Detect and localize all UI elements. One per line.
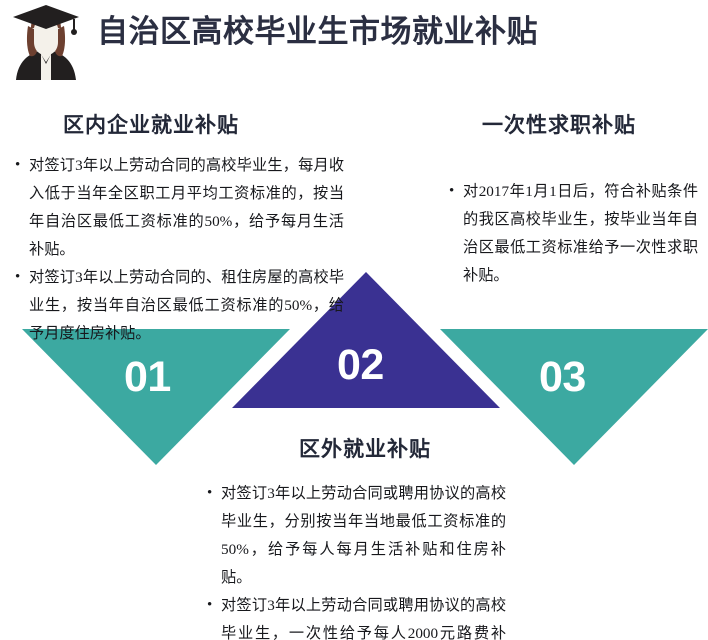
infographic-root: 自治区高校毕业生市场就业补贴 01 02 03 区内企业就业补贴 对签订3年以上… [0,0,708,640]
bullet-item: 对签订3年以上劳动合同的高校毕业生，每月收入低于当年全区职工月平均工资标准的，按… [14,152,344,264]
header: 自治区高校毕业生市场就业补贴 [0,0,708,86]
triangle-number-03: 03 [539,356,586,399]
section-body-01: 对签订3年以上劳动合同的高校毕业生，每月收入低于当年全区职工月平均工资标准的，按… [14,152,344,348]
section-heading-03: 一次性求职补贴 [482,112,636,138]
bullet-item: 对2017年1月1日后，符合补贴条件的我区高校毕业生，按毕业当年自治区最低工资标… [448,178,698,290]
triangle-number-02: 02 [337,344,384,387]
bullet-item: 对签订3年以上劳动合同的、租住房屋的高校毕业生，按当年自治区最低工资标准的50%… [14,264,344,348]
graduate-avatar-icon [8,4,84,80]
section-heading-02: 区外就业补贴 [299,436,431,462]
section-body-02: 对签订3年以上劳动合同或聘用协议的高校毕业生，分别按当年当地最低工资标准的50%… [206,480,506,640]
bullet-item: 对签订3年以上劳动合同或聘用协议的高校毕业生，一次性给予每人2000元路费补贴。 [206,592,506,640]
section-body-03: 对2017年1月1日后，符合补贴条件的我区高校毕业生，按毕业当年自治区最低工资标… [448,178,698,290]
section-heading-01: 区内企业就业补贴 [63,112,239,138]
bullet-item: 对签订3年以上劳动合同或聘用协议的高校毕业生，分别按当年当地最低工资标准的50%… [206,480,506,592]
triangle-number-01: 01 [124,356,171,399]
page-title: 自治区高校毕业生市场就业补贴 [97,13,538,51]
